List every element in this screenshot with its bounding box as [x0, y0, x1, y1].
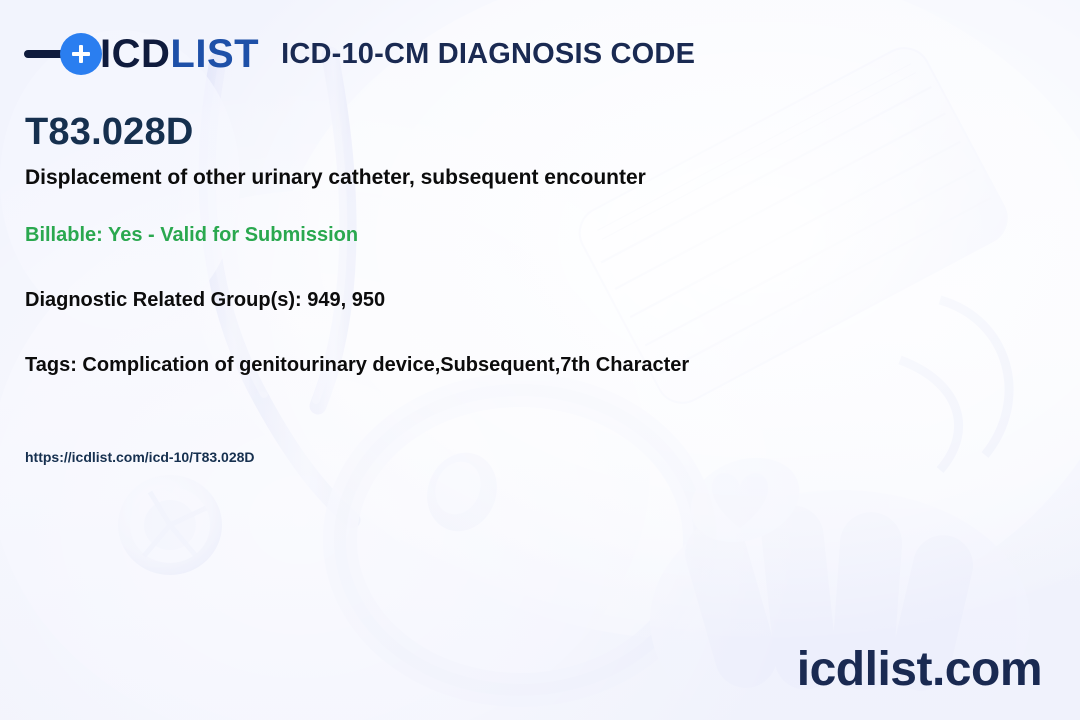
- logo-word-icd: ICD: [100, 32, 170, 76]
- code-description: Displacement of other urinary catheter, …: [25, 165, 1040, 190]
- code-details: T83.028D Displacement of other urinary c…: [25, 112, 1040, 466]
- diagnostic-related-groups: Diagnostic Related Group(s): 949, 950: [25, 288, 1040, 312]
- icdlist-logo[interactable]: ICDLIST: [24, 33, 259, 75]
- code-value: T83.028D: [25, 112, 1040, 154]
- logo-word-list: LIST: [170, 32, 259, 76]
- site-watermark: icdlist.com: [797, 646, 1042, 694]
- plus-icon: [60, 33, 102, 75]
- source-url[interactable]: https://icdlist.com/icd-10/T83.028D: [25, 449, 1040, 466]
- header: ICDLIST ICD-10-CM DIAGNOSIS CODE: [24, 22, 1056, 86]
- icd-code-card: ICDLIST ICD-10-CM DIAGNOSIS CODE T83.028…: [0, 0, 1080, 720]
- billable-status: Billable: Yes - Valid for Submission: [25, 223, 1040, 247]
- logo-wordmark: ICDLIST: [100, 34, 259, 74]
- page-title: ICD-10-CM DIAGNOSIS CODE: [281, 38, 695, 71]
- code-tags: Tags: Complication of genitourinary devi…: [25, 353, 1040, 377]
